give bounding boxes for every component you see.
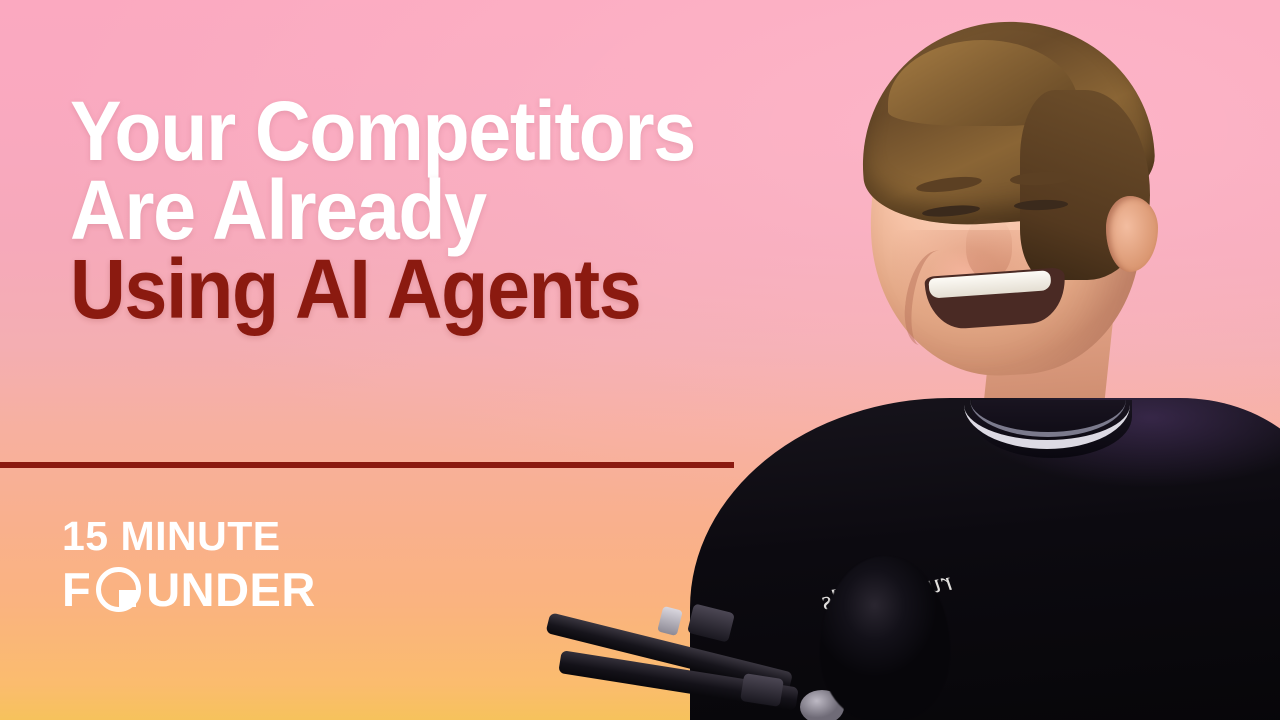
headline-line-2: Are Already	[70, 171, 880, 250]
mic-joint-lower	[740, 673, 784, 707]
ear	[1106, 196, 1158, 272]
headline-line-1: Your Competitors	[70, 92, 880, 171]
thumbnail-canvas: run the ads Your Competitors Are Already…	[0, 0, 1280, 720]
headline-block: Your Competitors Are Already Using AI Ag…	[70, 92, 880, 329]
brand-logo-line-1: 15 MINUTE	[62, 516, 316, 557]
brand-logo-line-2: F UNDER	[62, 566, 316, 613]
clock-pie-icon	[96, 567, 141, 612]
headline-line-3: Using AI Agents	[70, 250, 880, 329]
brand-logo-under: UNDER	[146, 566, 316, 613]
brand-logo-f: F	[62, 566, 91, 613]
clock-wedge	[119, 590, 136, 607]
brand-logo: 15 MINUTE F UNDER	[62, 516, 316, 613]
teeth	[928, 270, 1051, 298]
accent-divider	[0, 462, 734, 468]
